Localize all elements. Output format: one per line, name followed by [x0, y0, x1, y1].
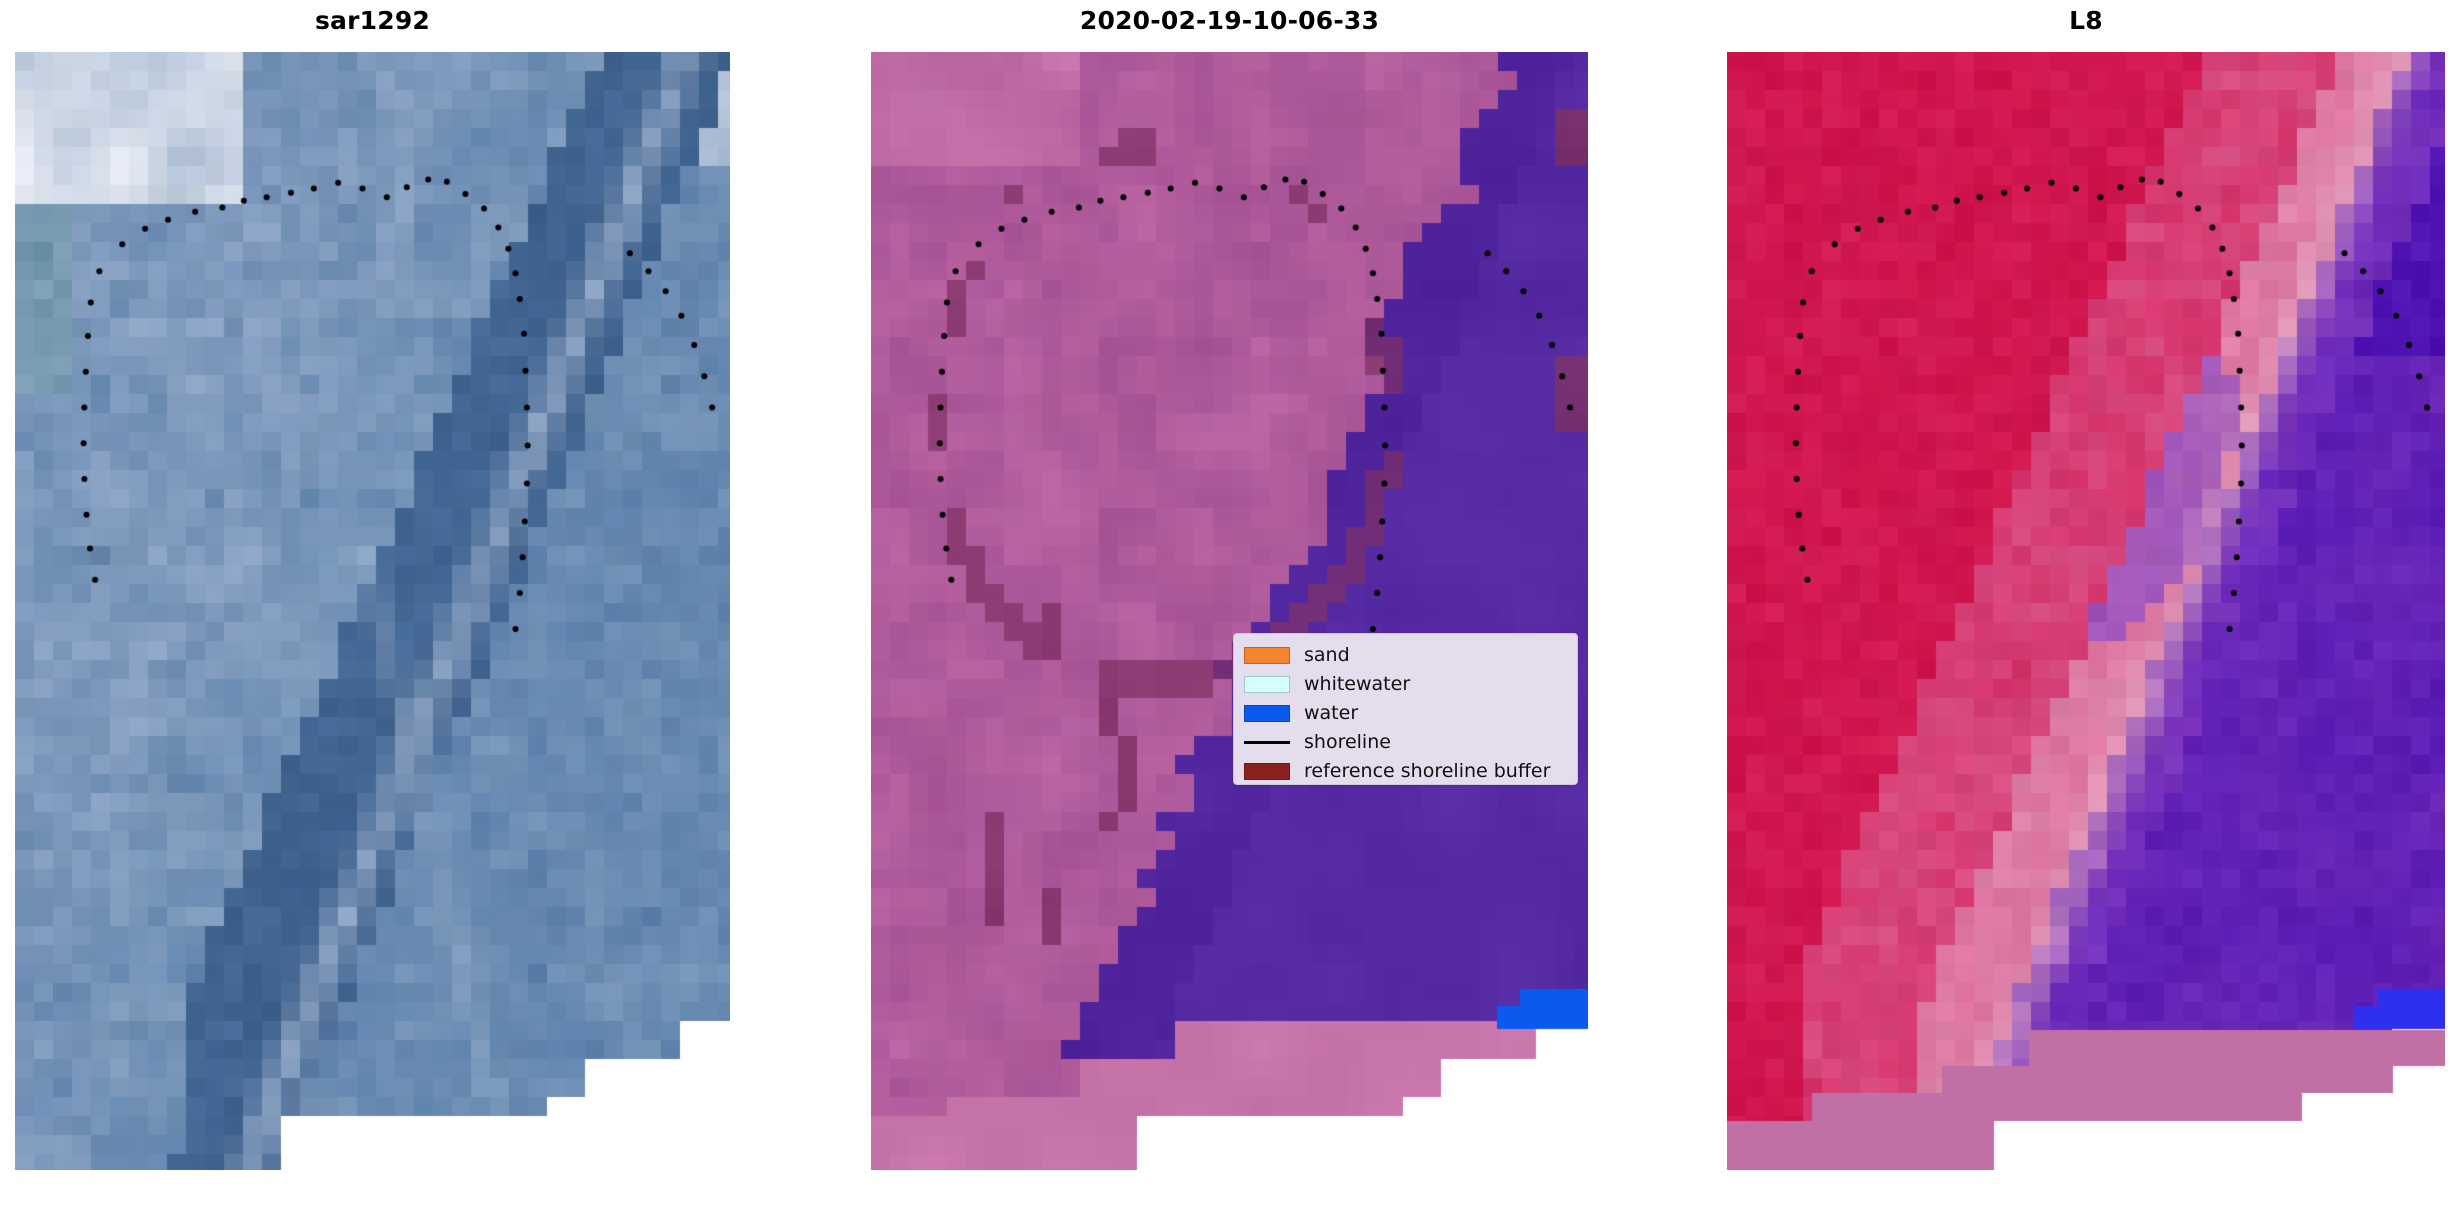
legend-swatch-shoreline-icon — [1244, 734, 1290, 751]
legend-label: whitewater — [1304, 675, 1410, 694]
legend-label: water — [1304, 704, 1358, 723]
classified-raster-image — [871, 52, 1588, 1170]
figure-canvas: sar1292 2020-02-19-10-06-33 L8 sandwhite… — [0, 0, 2460, 1207]
legend-label: reference shoreline buffer — [1304, 762, 1550, 781]
l8-raster-image — [1727, 52, 2445, 1170]
legend-item-water[interactable]: water — [1244, 699, 1565, 728]
legend-label: sand — [1304, 646, 1350, 665]
legend-item-whitewater[interactable]: whitewater — [1244, 670, 1565, 699]
class-legend[interactable]: sandwhitewaterwatershorelinereference sh… — [1233, 633, 1578, 785]
legend-swatch-water-icon — [1244, 705, 1290, 722]
legend-item-reference-shoreline-buffer[interactable]: reference shoreline buffer — [1244, 757, 1565, 786]
panel-classified-image[interactable] — [871, 52, 1588, 1170]
sar-raster-image — [15, 52, 730, 1170]
panel-title-timestamp: 2020-02-19-10-06-33 — [871, 8, 1588, 33]
legend-label: shoreline — [1304, 733, 1391, 752]
legend-swatch-sand-icon — [1244, 647, 1290, 664]
panel-title-l8: L8 — [1727, 8, 2445, 33]
panel-title-sar1292: sar1292 — [15, 8, 730, 33]
legend-swatch-reference-shoreline-buffer-icon — [1244, 763, 1290, 780]
legend-item-sand[interactable]: sand — [1244, 641, 1565, 670]
legend-item-shoreline[interactable]: shoreline — [1244, 728, 1565, 757]
panel-sar1292[interactable] — [15, 52, 730, 1170]
legend-swatch-whitewater-icon — [1244, 676, 1290, 693]
panel-l8[interactable] — [1727, 52, 2445, 1170]
